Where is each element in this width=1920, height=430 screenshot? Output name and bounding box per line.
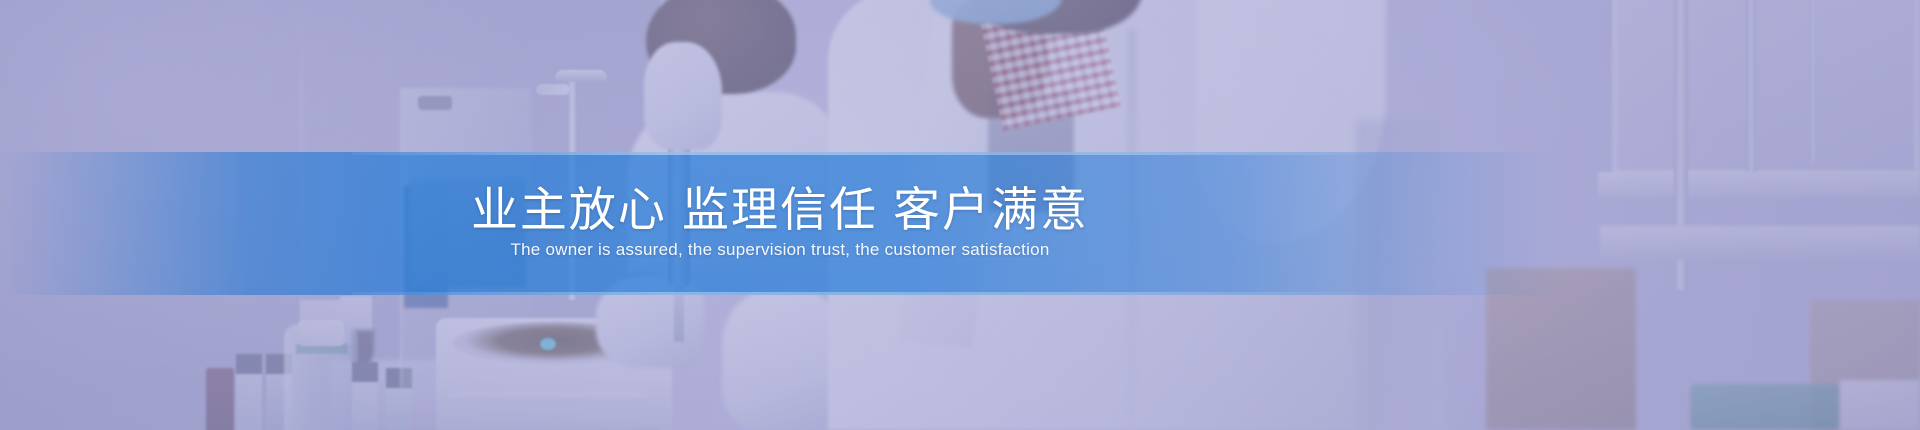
chrome-faucet-arm [555, 70, 607, 82]
storage-tray [1840, 380, 1920, 430]
slogan-subline: The owner is assured, the supervision tr… [510, 240, 1049, 260]
window-mullion [1746, 0, 1756, 176]
counter-shelf [1600, 226, 1920, 260]
gloved-hand [644, 42, 722, 150]
centrifuge-sample [540, 338, 556, 350]
reagent-bottle-cap [298, 320, 344, 346]
reagent-vial [236, 354, 262, 430]
chrome-faucet-valve [536, 84, 570, 95]
centrifuge-front-panel [448, 392, 648, 404]
window [1612, 0, 1920, 176]
slogan-headline: 业主放心 监理信任 客户满意 [471, 186, 1089, 234]
window-sill [1598, 172, 1920, 198]
slogan-block: 业主放心 监理信任 客户满意 The owner is assured, the… [0, 152, 1560, 295]
reagent-vial [352, 362, 378, 430]
cabinet-latch [418, 96, 452, 110]
hero-banner: 业主放心 监理信任 客户满意 The owner is assured, the… [0, 0, 1920, 430]
storage-tray [1690, 384, 1840, 430]
gloved-hand [722, 290, 842, 430]
window-mullion [1810, 0, 1816, 162]
reagent-vial-dark [206, 368, 234, 430]
